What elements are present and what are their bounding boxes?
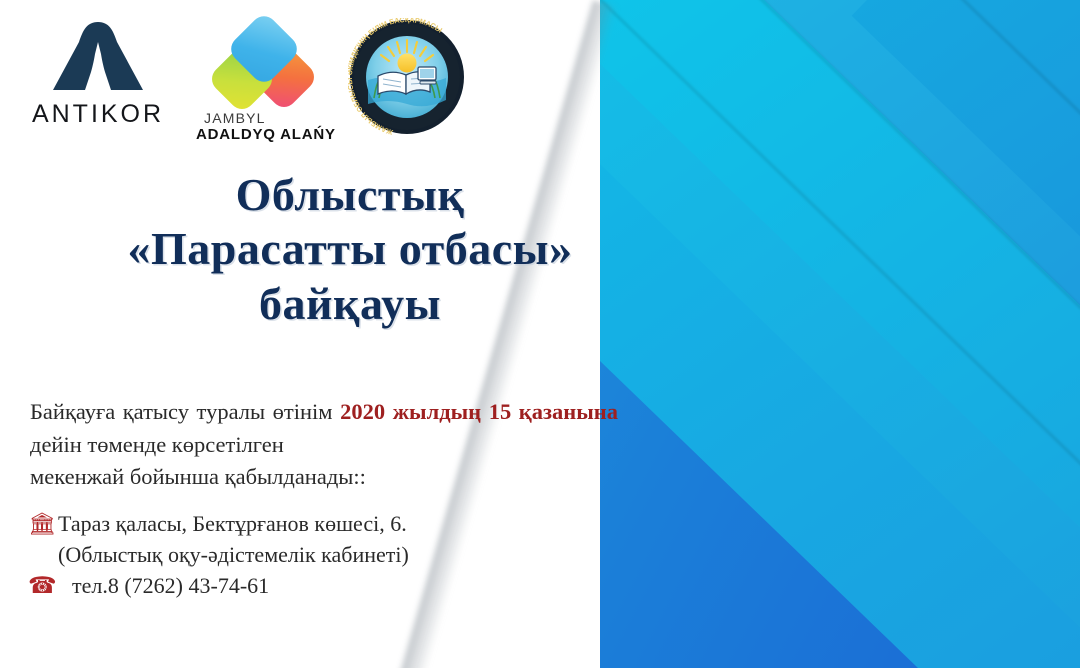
address-line-2-row: (Облыстық оқу-әдістемелік кабинеті)	[28, 539, 588, 570]
body-line-3: мекенжай бойынша қабылданады::	[30, 461, 618, 494]
title-line-3: байқауы	[0, 277, 700, 331]
building-icon: 🏛	[28, 508, 58, 539]
logo-row: ANTIKOR JAMBYL ADALDYQ ALAŃY	[0, 8, 520, 144]
body-segment-2	[481, 399, 489, 424]
deadline-date-highlight: 15 қазанына	[489, 399, 618, 424]
jambyl-education-department-emblem: ЖАМБЫЛ ОБЛЫСЫ ӘКІМДІГІНІҢ БІЛІМ БАСҚАРМА…	[348, 18, 466, 136]
body-segment-1: Байқауға қатысу туралы өтінім	[30, 399, 340, 424]
jambyl-label-line1: JAMBYL	[196, 110, 332, 126]
address-line-1-row: 🏛 Тараз қаласы, Бектұрғанов көшесі, 6.	[28, 508, 588, 539]
title-line-1: Облыстық	[0, 168, 700, 222]
announcement-paragraph: Байқауға қатысу туралы өтінім 2020 жылды…	[30, 396, 618, 494]
phone-line-row: ☎ тел.8 (7262) 43-74-61	[28, 570, 588, 603]
jambyl-mark-icon	[215, 22, 313, 106]
address-line-1: Тараз қаласы, Бектұрғанов көшесі, 6.	[58, 508, 407, 539]
title-line-2: «Парасатты отбасы»	[0, 222, 700, 276]
phone-icon: ☎	[28, 570, 58, 603]
address-line-2: (Облыстық оқу-әдістемелік кабинеті)	[58, 539, 409, 570]
antikor-logo: ANTIKOR	[18, 20, 178, 127]
body-segment-3: дейін төменде көрсетілген	[30, 432, 284, 457]
deadline-year-highlight: 2020 жылдың	[340, 399, 481, 424]
jambyl-logo: JAMBYL ADALDYQ ALAŃY	[196, 22, 332, 143]
poster-title: Облыстық «Парасатты отбасы» байқауы	[0, 168, 700, 331]
antikor-mark-icon	[39, 20, 157, 92]
poster-canvas: ANTIKOR JAMBYL ADALDYQ ALAŃY	[0, 0, 1080, 668]
phone-number: тел.8 (7262) 43-74-61	[58, 570, 269, 601]
antikor-wordmark: ANTIKOR	[18, 102, 178, 127]
contact-block: 🏛 Тараз қаласы, Бектұрғанов көшесі, 6. (…	[28, 508, 588, 603]
jambyl-label-line2: ADALDYQ ALAŃY	[196, 126, 332, 143]
